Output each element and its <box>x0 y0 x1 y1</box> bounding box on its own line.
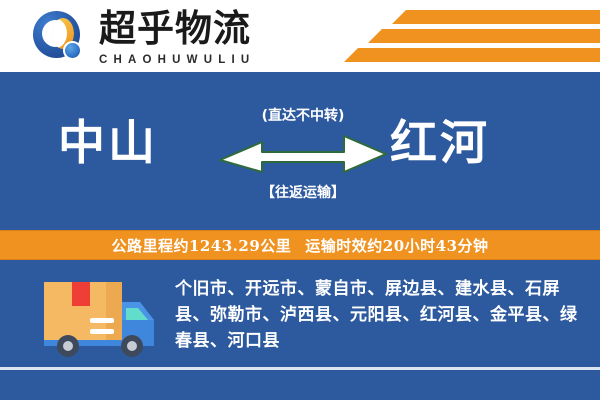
duration-text: 运输时效约20小时43分钟 <box>305 235 488 256</box>
footer-divider-rule <box>0 367 600 370</box>
brand-block: 超乎物流 CHAOHUWULIU <box>99 8 255 68</box>
route-note-direct: (直达不中转) <box>218 106 388 126</box>
coverage-section: 个旧市、开远市、蒙自市、屏边县、建水县、石屏县、弥勒市、泸西县、元阳县、红河县、… <box>0 262 600 396</box>
logo-dot-icon <box>63 41 82 60</box>
header-stripe <box>344 48 600 62</box>
coverage-areas-text: 个旧市、开远市、蒙自市、屏边县、建水县、石屏县、弥勒市、泸西县、元阳县、红河县、… <box>175 276 587 354</box>
logistics-route-banner: 超乎物流 CHAOHUWULIU 中山 (直达不中转) 【往返运输】 红河 公路… <box>0 0 600 400</box>
destination-city: 红河 <box>390 116 490 172</box>
banner-header: 超乎物流 CHAOHUWULIU <box>0 0 600 76</box>
company-logo-icon <box>33 11 89 67</box>
brand-name-en: CHAOHUWULIU <box>99 53 255 68</box>
route-hero: 中山 (直达不中转) 【往返运输】 红河 <box>0 76 600 228</box>
origin-city: 中山 <box>58 116 158 172</box>
info-bar-wrapper: 公路里程约1243.29公里 运输时效约20小时43分钟 <box>0 228 600 262</box>
route-info-bar: 公路里程约1243.29公里 运输时效约20小时43分钟 <box>0 230 600 260</box>
distance-text: 公路里程约1243.29公里 <box>111 235 291 256</box>
header-stripe <box>392 10 600 24</box>
route-middle-block: (直达不中转) 【往返运输】 <box>218 104 388 216</box>
route-note-roundtrip: 【往返运输】 <box>218 183 388 203</box>
delivery-truck-icon <box>28 274 158 358</box>
double-headed-arrow-icon <box>218 130 388 178</box>
header-stripe <box>368 29 600 43</box>
brand-name-cn: 超乎物流 <box>99 8 255 50</box>
header-stripes-decoration <box>330 10 600 68</box>
